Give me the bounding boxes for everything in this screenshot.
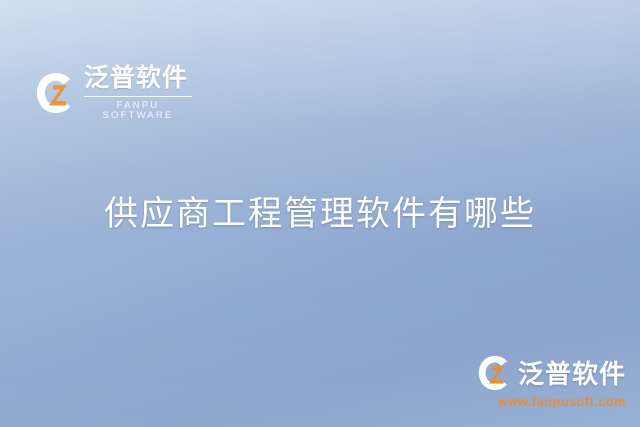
slide-canvas: 泛普软件 FANPU SOFTWARE 供应商工程管理软件有哪些 泛普软件 ww… xyxy=(0,0,640,427)
brand-logo-text: 泛普软件 FANPU SOFTWARE xyxy=(84,66,192,120)
watermark-name-cn: 泛普软件 xyxy=(518,354,626,391)
fanpu-logo-icon xyxy=(36,72,76,114)
watermark-logo-row: 泛普软件 xyxy=(478,354,626,391)
brand-logo-top: 泛普软件 FANPU SOFTWARE xyxy=(36,66,192,120)
watermark-url: www.fanpusoft.com xyxy=(478,395,626,409)
brand-name-cn: 泛普软件 xyxy=(84,66,192,91)
fanpu-watermark-icon xyxy=(478,355,512,391)
watermark: 泛普软件 www.fanpusoft.com xyxy=(478,354,626,409)
slide-headline: 供应商工程管理软件有哪些 xyxy=(0,186,640,235)
brand-name-en: FANPU SOFTWARE xyxy=(84,96,192,120)
